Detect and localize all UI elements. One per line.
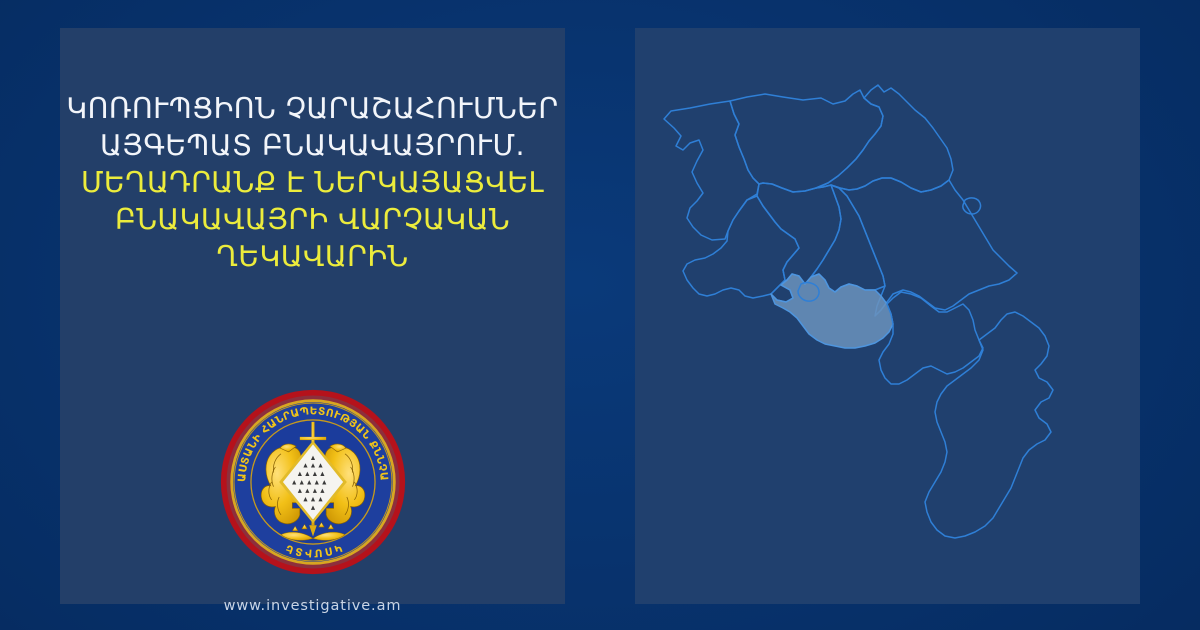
map-panel xyxy=(635,28,1140,604)
headline-line-2: ԱՅԳԵՊԱՏ ԲՆԱԿԱՎԱՅՐՈՒՄ. xyxy=(60,127,565,164)
map-region-sevan-islet xyxy=(963,198,981,214)
emblem-wrapper: ՀԱՅԱՍՏԱՆԻ ՀԱՆՐԱՊԵՏՈՒԹՅԱՆ ՔՆՆՉԱԿԱՆ ԿՈՄԻՏԵ xyxy=(60,388,565,580)
map-region-tavush xyxy=(816,85,953,192)
map-region-syunik xyxy=(925,312,1053,538)
armenia-administrative-map-icon xyxy=(635,28,1140,604)
investigative-committee-seal-icon: ՀԱՅԱՍՏԱՆԻ ՀԱՆՐԱՊԵՏՈՒԹՅԱՆ ՔՆՆՉԱԿԱՆ ԿՈՄԻՏԵ xyxy=(219,388,407,576)
text-panel: ԿՈՌՈՒՊՑԻՈՆ ՉԱՐԱՇԱՀՈՒՄՆԵՐ ԱՅԳԵՊԱՏ ԲՆԱԿԱՎԱ… xyxy=(60,28,565,604)
map-region-ararat xyxy=(771,274,893,348)
poster-root: ԿՈՌՈՒՊՑԻՈՆ ՉԱՐԱՇԱՀՈՒՄՆԵՐ ԱՅԳԵՊԱՏ ԲՆԱԿԱՎԱ… xyxy=(0,0,1200,630)
map-region-armavir xyxy=(683,196,799,298)
site-url: www.investigative.am xyxy=(60,598,565,614)
headline-line-3: ՄԵՂԱԴՐԱՆՔ Է ՆԵՐԿԱՅԱՑՎԵԼ xyxy=(60,164,565,201)
map-region-kotayk xyxy=(811,185,885,292)
headline-line-1: ԿՈՌՈՒՊՑԻՈՆ ՉԱՐԱՇԱՀՈՒՄՆԵՐ xyxy=(60,90,565,127)
map-region-shirak xyxy=(664,101,759,240)
headline-line-5: ՂԵԿԱՎԱՐԻՆ xyxy=(60,238,565,275)
headline: ԿՈՌՈՒՊՑԻՈՆ ՉԱՐԱՇԱՀՈՒՄՆԵՐ ԱՅԳԵՊԱՏ ԲՆԱԿԱՎԱ… xyxy=(60,90,565,275)
map-region-lori xyxy=(730,90,883,192)
headline-line-4: ԲՆԱԿԱՎԱՅՐԻ ՎԱՐՉԱԿԱՆ xyxy=(60,201,565,238)
